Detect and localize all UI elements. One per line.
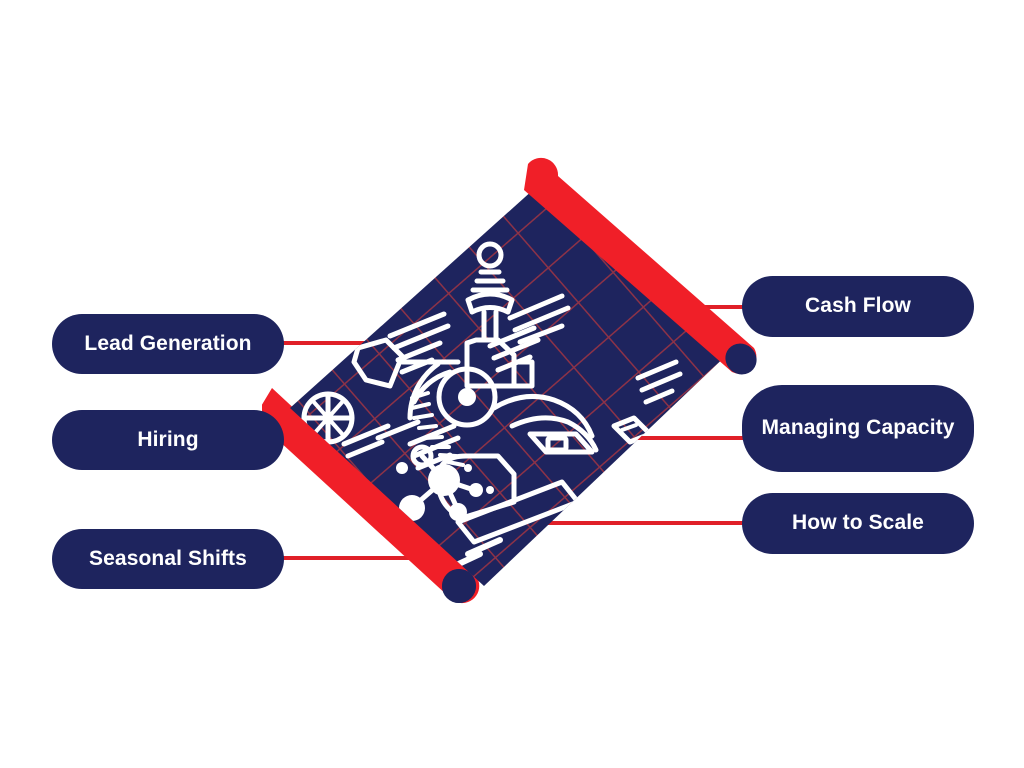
- blueprint-graphic: [262, 150, 762, 610]
- label-managing-capacity[interactable]: Managing Capacity: [742, 385, 974, 472]
- label-seasonal-shifts-text: Seasonal Shifts: [89, 547, 247, 571]
- label-hiring-text: Hiring: [137, 428, 198, 452]
- label-cash-flow[interactable]: Cash Flow: [742, 276, 974, 337]
- label-hiring[interactable]: Hiring: [52, 410, 284, 470]
- label-lead-generation[interactable]: Lead Generation: [52, 314, 284, 374]
- label-cash-flow-text: Cash Flow: [805, 294, 911, 318]
- label-how-to-scale-text: How to Scale: [792, 511, 924, 535]
- infographic-canvas: Lead Generation Hiring Seasonal Shifts C…: [0, 0, 1024, 768]
- label-how-to-scale[interactable]: How to Scale: [742, 493, 974, 554]
- label-lead-generation-text: Lead Generation: [84, 332, 251, 356]
- label-managing-capacity-text: Managing Capacity: [761, 416, 954, 440]
- label-seasonal-shifts[interactable]: Seasonal Shifts: [52, 529, 284, 589]
